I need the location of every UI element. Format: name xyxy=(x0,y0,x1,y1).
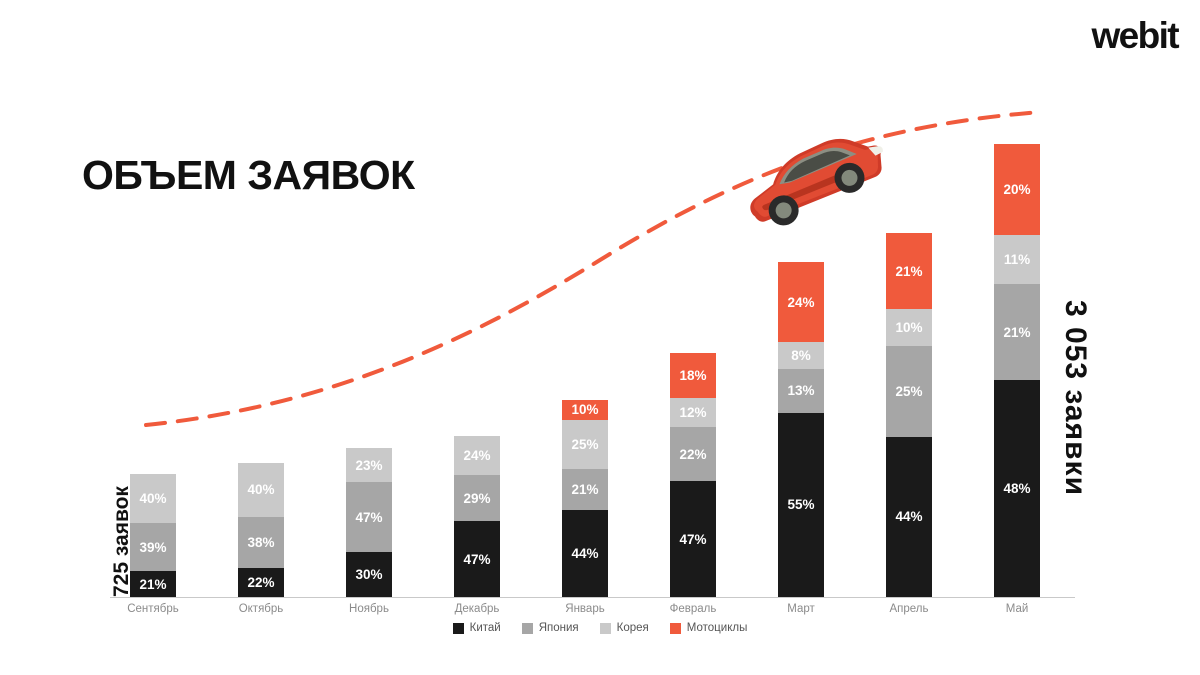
bar-value-label: 47% xyxy=(355,510,382,525)
bar-segment-китай: 47% xyxy=(670,481,716,597)
bar-value-label: 25% xyxy=(895,384,922,399)
bar-value-label: 47% xyxy=(463,552,490,567)
legend-item[interactable]: Мотоциклы xyxy=(670,622,748,634)
bar-segment-япония: 38% xyxy=(238,517,284,568)
bar-segment-китай: 22% xyxy=(238,568,284,597)
bar-value-label: 39% xyxy=(139,540,166,555)
bar-segment-корея: 25% xyxy=(562,420,608,469)
x-axis-label-май: Май xyxy=(957,603,1077,615)
bar-segment-корея: 23% xyxy=(346,448,392,482)
bar-апрель[interactable]: 44%25%10%21% xyxy=(886,233,932,597)
bar-segment-корея: 8% xyxy=(778,342,824,369)
bar-segment-китай: 30% xyxy=(346,552,392,597)
bar-декабрь[interactable]: 47%29%24% xyxy=(454,436,500,597)
bar-value-label: 24% xyxy=(787,295,814,310)
bar-segment-мотоциклы: 10% xyxy=(562,400,608,420)
legend-item[interactable]: Корея xyxy=(600,622,649,634)
bar-value-label: 29% xyxy=(463,491,490,506)
bar-value-label: 48% xyxy=(1003,481,1030,496)
legend-swatch-china xyxy=(453,623,464,634)
bar-value-label: 24% xyxy=(463,448,490,463)
bar-value-label: 21% xyxy=(571,482,598,497)
x-axis-label-март: Март xyxy=(741,603,861,615)
legend-swatch-korea xyxy=(600,623,611,634)
bar-value-label: 18% xyxy=(679,368,706,383)
legend-label-motorcycles: Мотоциклы xyxy=(687,622,748,634)
bar-value-label: 8% xyxy=(791,348,811,363)
bar-март[interactable]: 55%13%8%24% xyxy=(778,262,824,597)
bar-value-label: 40% xyxy=(139,491,166,506)
bar-segment-япония: 21% xyxy=(994,284,1040,379)
bar-value-label: 13% xyxy=(787,383,814,398)
bar-value-label: 47% xyxy=(679,532,706,547)
stacked-bar-chart: 21%39%40%Сентябрь22%38%40%Октябрь30%47%2… xyxy=(0,0,1200,675)
bar-segment-япония: 29% xyxy=(454,475,500,522)
legend-item[interactable]: Япония xyxy=(522,622,579,634)
x-axis-label-декабрь: Декабрь xyxy=(417,603,537,615)
x-axis-label-январь: Январь xyxy=(525,603,645,615)
bar-сентябрь[interactable]: 21%39%40% xyxy=(130,474,176,597)
x-axis-label-октябрь: Октябрь xyxy=(201,603,321,615)
bar-segment-китай: 44% xyxy=(886,437,932,597)
bar-value-label: 44% xyxy=(895,509,922,524)
bar-value-label: 20% xyxy=(1003,182,1030,197)
bar-segment-корея: 10% xyxy=(886,309,932,345)
bar-value-label: 55% xyxy=(787,497,814,512)
bar-segment-китай: 44% xyxy=(562,510,608,597)
bar-segment-япония: 13% xyxy=(778,369,824,413)
bar-segment-корея: 24% xyxy=(454,436,500,475)
bar-segment-япония: 47% xyxy=(346,482,392,552)
chart-legend: Китай Япония Корея Мотоциклы xyxy=(0,622,1200,634)
bar-segment-корея: 40% xyxy=(130,474,176,523)
legend-label-japan: Япония xyxy=(539,622,579,634)
bar-value-label: 10% xyxy=(895,320,922,335)
bar-value-label: 44% xyxy=(571,546,598,561)
x-axis-label-сентябрь: Сентябрь xyxy=(93,603,213,615)
bar-segment-мотоциклы: 24% xyxy=(778,262,824,342)
bar-segment-китай: 21% xyxy=(130,571,176,597)
x-axis-label-ноябрь: Ноябрь xyxy=(309,603,429,615)
bar-value-label: 11% xyxy=(1004,252,1030,267)
bar-segment-япония: 21% xyxy=(562,469,608,510)
bar-segment-япония: 25% xyxy=(886,346,932,437)
bar-value-label: 10% xyxy=(571,402,598,417)
bar-value-label: 21% xyxy=(139,577,166,592)
x-axis-label-апрель: Апрель xyxy=(849,603,969,615)
x-axis-label-февраль: Февраль xyxy=(633,603,753,615)
bar-value-label: 21% xyxy=(1003,325,1030,340)
bar-segment-китай: 55% xyxy=(778,413,824,597)
bar-segment-мотоциклы: 21% xyxy=(886,233,932,309)
bar-value-label: 38% xyxy=(247,535,274,550)
bar-segment-мотоциклы: 18% xyxy=(670,353,716,397)
bar-value-label: 22% xyxy=(679,447,706,462)
bar-segment-китай: 47% xyxy=(454,521,500,597)
bar-май[interactable]: 48%21%11%20% xyxy=(994,144,1040,597)
bar-segment-япония: 22% xyxy=(670,427,716,481)
legend-label-korea: Корея xyxy=(617,622,649,634)
bar-segment-корея: 12% xyxy=(670,398,716,428)
bar-ноябрь[interactable]: 30%47%23% xyxy=(346,448,392,597)
bar-segment-китай: 48% xyxy=(994,380,1040,597)
legend-swatch-motorcycles xyxy=(670,623,681,634)
bar-январь[interactable]: 44%21%25%10% xyxy=(562,400,608,597)
bar-segment-мотоциклы: 20% xyxy=(994,144,1040,235)
bar-segment-корея: 11% xyxy=(994,235,1040,285)
bar-segment-япония: 39% xyxy=(130,523,176,571)
bar-value-label: 30% xyxy=(355,567,382,582)
legend-swatch-japan xyxy=(522,623,533,634)
legend-item[interactable]: Китай xyxy=(453,622,501,634)
bar-value-label: 25% xyxy=(571,437,598,452)
bar-февраль[interactable]: 47%22%12%18% xyxy=(670,351,716,597)
bar-value-label: 40% xyxy=(247,482,274,497)
bar-октябрь[interactable]: 22%38%40% xyxy=(238,463,284,597)
bar-segment-корея: 40% xyxy=(238,463,284,517)
bar-value-label: 23% xyxy=(355,458,382,473)
bar-value-label: 21% xyxy=(895,264,922,279)
bar-value-label: 22% xyxy=(247,575,274,590)
car-icon xyxy=(731,133,893,233)
legend-label-china: Китай xyxy=(470,622,501,634)
bar-value-label: 12% xyxy=(679,405,706,420)
